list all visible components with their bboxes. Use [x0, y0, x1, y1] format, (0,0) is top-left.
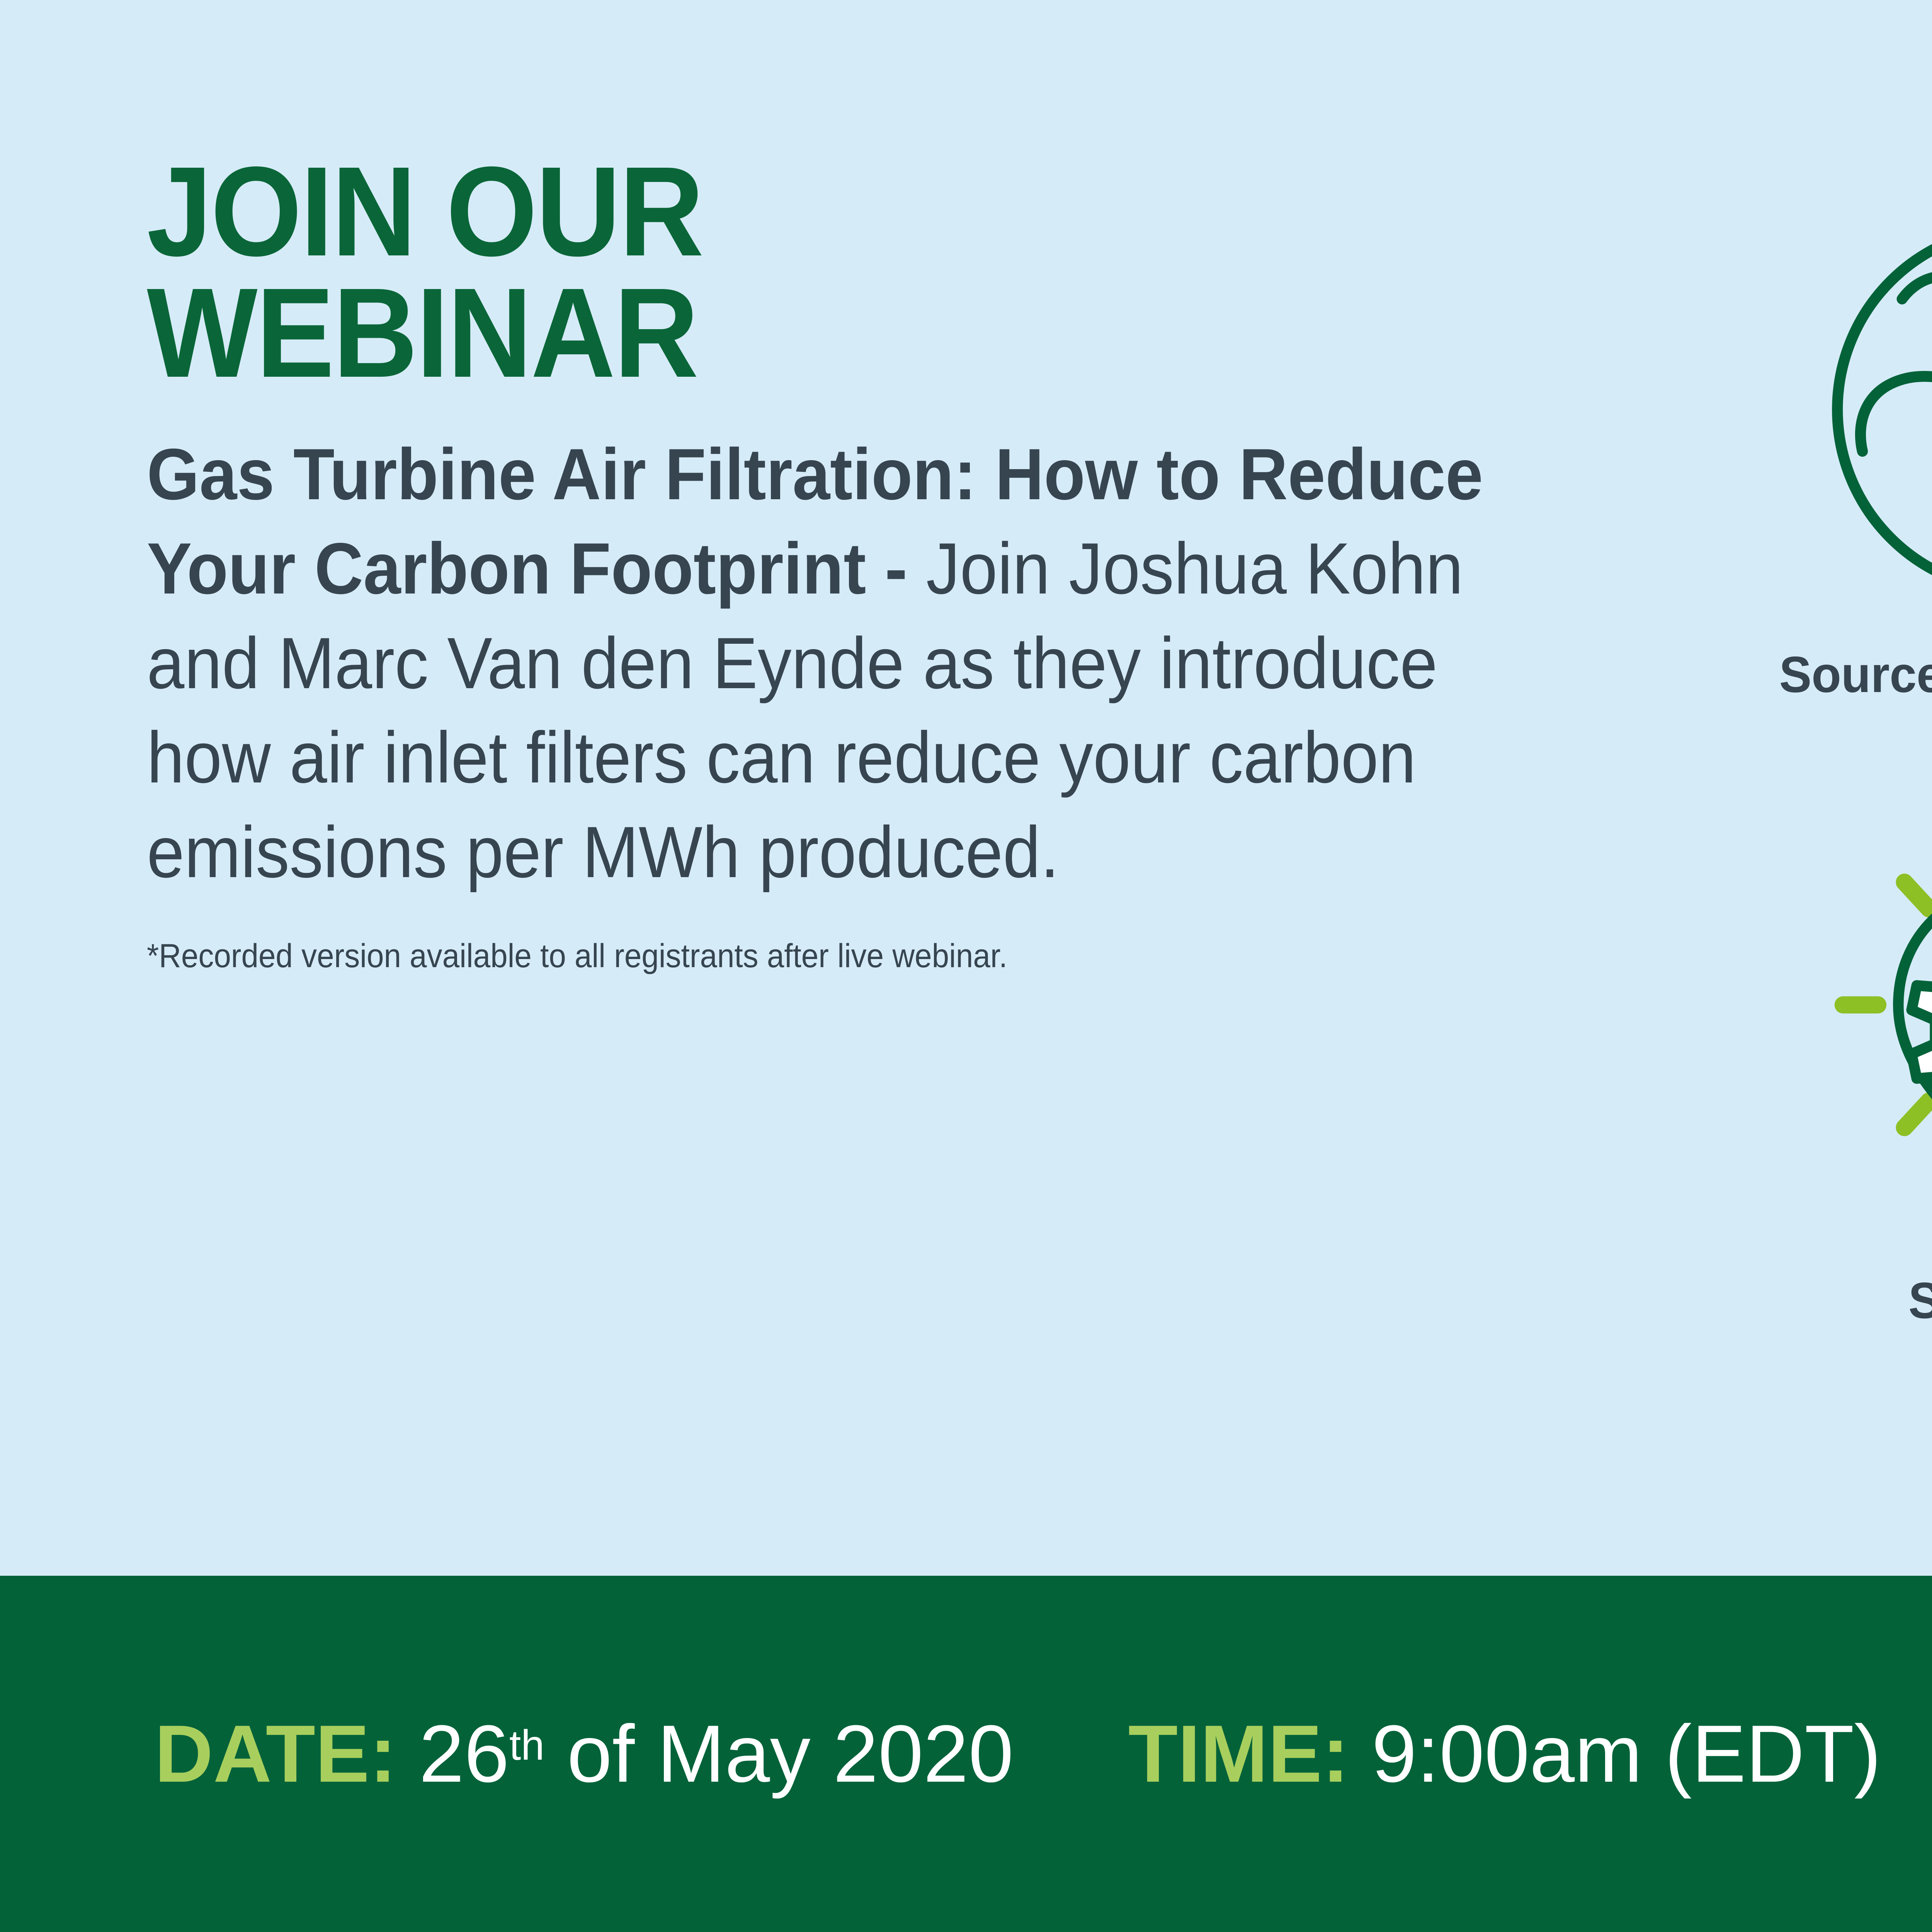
topic-item-source-of-emissions: Source of Emissions	[1692, 182, 1932, 792]
date-label: DATE:	[155, 1708, 396, 1799]
topic-item-solutions: Solutions	[1692, 808, 1932, 1418]
topic-label-solutions: Solutions	[1908, 1271, 1932, 1330]
date-day: 26	[419, 1708, 509, 1799]
headline-line-2: WEBINAR	[147, 272, 1498, 393]
date-rest: of May 2020	[544, 1708, 1014, 1799]
fan-icon	[1810, 182, 1932, 638]
webinar-poster: JOIN OUR WEBINAR Gas Turbine Air Filtrat…	[0, 0, 1932, 1932]
headline-line-1: JOIN OUR	[147, 151, 1498, 272]
lightbulb-gear-icon	[1814, 808, 1932, 1264]
time-label: TIME:	[1128, 1708, 1349, 1799]
topic-icon-grid: Source of Emissions How it works	[1692, 182, 1932, 1418]
footer-bar: DATE: 26th of May 2020 TIME: 9:00am (EDT…	[0, 1576, 1932, 1932]
event-details: DATE: 26th of May 2020 TIME: 9:00am (EDT…	[155, 1707, 1881, 1801]
page-title: JOIN OUR WEBINAR	[147, 151, 1498, 393]
date-ordinal-suffix: th	[509, 1722, 544, 1769]
time-value: 9:00am (EDT)	[1372, 1708, 1881, 1799]
topic-label-source-of-emissions: Source of Emissions	[1779, 645, 1932, 704]
left-content-column: JOIN OUR WEBINAR Gas Turbine Air Filtrat…	[147, 151, 1615, 976]
webinar-description: Gas Turbine Air Filtration: How to Reduc…	[147, 427, 1512, 899]
recording-footnote: *Recorded version available to all regis…	[147, 936, 1512, 976]
